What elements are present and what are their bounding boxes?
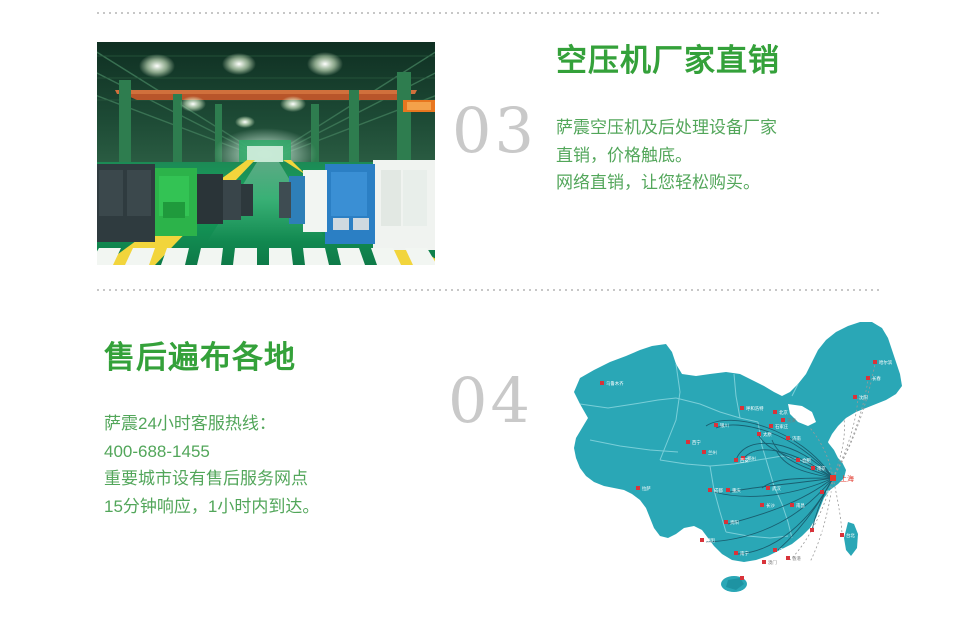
city-label: 济南 (792, 435, 801, 442)
city-marker (714, 423, 718, 427)
city-label: 长沙 (766, 502, 775, 509)
city-label: 长春 (872, 375, 881, 382)
city-label: 海口 (746, 575, 755, 582)
city-marker (700, 538, 704, 542)
hub-label: 上海 (840, 474, 854, 483)
body-line: 萨震24小时客服热线： (104, 410, 319, 438)
city-marker (811, 466, 815, 470)
city-label: 哈尔滨 (879, 359, 893, 366)
city-marker (686, 440, 690, 444)
city-marker (773, 548, 777, 552)
city-marker (762, 560, 766, 564)
city-marker (636, 486, 640, 490)
city-label: 重庆 (732, 487, 741, 494)
city-marker (781, 418, 785, 422)
city-label: 福州 (816, 527, 825, 534)
city-label: 天津 (787, 417, 796, 424)
city-marker (724, 520, 728, 524)
city-label: 杭州 (826, 489, 835, 496)
city-marker (866, 376, 870, 380)
city-label: 北京 (779, 409, 788, 416)
city-label: 合肥 (802, 457, 811, 464)
promo-page: 03 空压机厂家直销 萨震空压机及后处理设备厂家 直销，价格触底。 网络直销，让… (0, 0, 960, 618)
city-label: 贵阳 (730, 519, 739, 526)
city-label: 沈阳 (859, 394, 868, 401)
china-service-network-map: 乌鲁木齐哈尔滨长春沈阳呼和浩特北京天津石家庄银川太原济南西宁兰州郑州西安合肥南京… (530, 300, 950, 610)
city-label: 成都 (714, 487, 723, 494)
city-marker (702, 450, 706, 454)
city-marker (786, 556, 790, 560)
city-label: 台北 (846, 532, 855, 539)
body-line: 重要城市设有售后服务网点 (104, 465, 319, 493)
city-label: 南昌 (796, 502, 805, 509)
city-marker (773, 410, 777, 414)
city-label: 乌鲁木齐 (606, 380, 624, 387)
city-label: 澳门 (768, 559, 777, 566)
city-marker (734, 551, 738, 555)
city-marker (786, 436, 790, 440)
body-line: 直销，价格触底。 (556, 142, 777, 170)
city-marker (790, 503, 794, 507)
section-heading-03: 空压机厂家直销 (556, 44, 780, 78)
city-label: 拉萨 (642, 485, 651, 492)
section-body-03: 萨震空压机及后处理设备厂家 直销，价格触底。 网络直销，让您轻松购买。 (556, 114, 777, 197)
taiwan-island (844, 522, 858, 556)
city-marker (873, 360, 877, 364)
city-marker (840, 533, 844, 537)
section-number-04: 04 (448, 370, 533, 432)
city-label: 西宁 (692, 439, 701, 446)
city-label: 香港 (792, 555, 801, 562)
body-line: 萨震空压机及后处理设备厂家 (556, 114, 777, 142)
city-marker (820, 490, 824, 494)
city-marker (810, 528, 814, 532)
city-marker (853, 395, 857, 399)
city-marker (757, 432, 761, 436)
city-marker (769, 424, 773, 428)
body-line: 15分钟响应，1小时内到达。 (104, 493, 319, 521)
hotline-number: 400-688-1455 (104, 438, 319, 466)
body-line: 网络直销，让您轻松购买。 (556, 169, 777, 197)
divider-top (95, 12, 880, 14)
city-label: 石家庄 (775, 423, 789, 430)
city-marker (726, 488, 730, 492)
city-label: 银川 (720, 422, 729, 429)
city-label: 太原 (763, 431, 772, 438)
city-label: 西安 (740, 457, 749, 464)
city-label: 南京 (817, 465, 826, 472)
city-label: 呼和浩特 (746, 405, 764, 412)
city-marker (708, 488, 712, 492)
city-label: 南宁 (740, 550, 749, 556)
city-marker (600, 381, 604, 385)
city-marker (796, 458, 800, 462)
city-label: 武汉 (772, 485, 781, 492)
section-body-04: 萨震24小时客服热线： 400-688-1455 重要城市设有售后服务网点 15… (104, 410, 319, 520)
city-label: 兰州 (708, 449, 717, 455)
city-marker (734, 458, 738, 462)
city-marker (766, 486, 770, 490)
city-label: 广州 (779, 547, 788, 554)
city-marker (760, 503, 764, 507)
city-marker (740, 576, 744, 580)
section-number-03: 03 (452, 100, 537, 162)
factory-workshop-photo (97, 42, 435, 265)
city-marker (740, 406, 744, 410)
divider-middle (95, 289, 880, 291)
section-heading-04: 售后遍布各地 (104, 341, 296, 375)
